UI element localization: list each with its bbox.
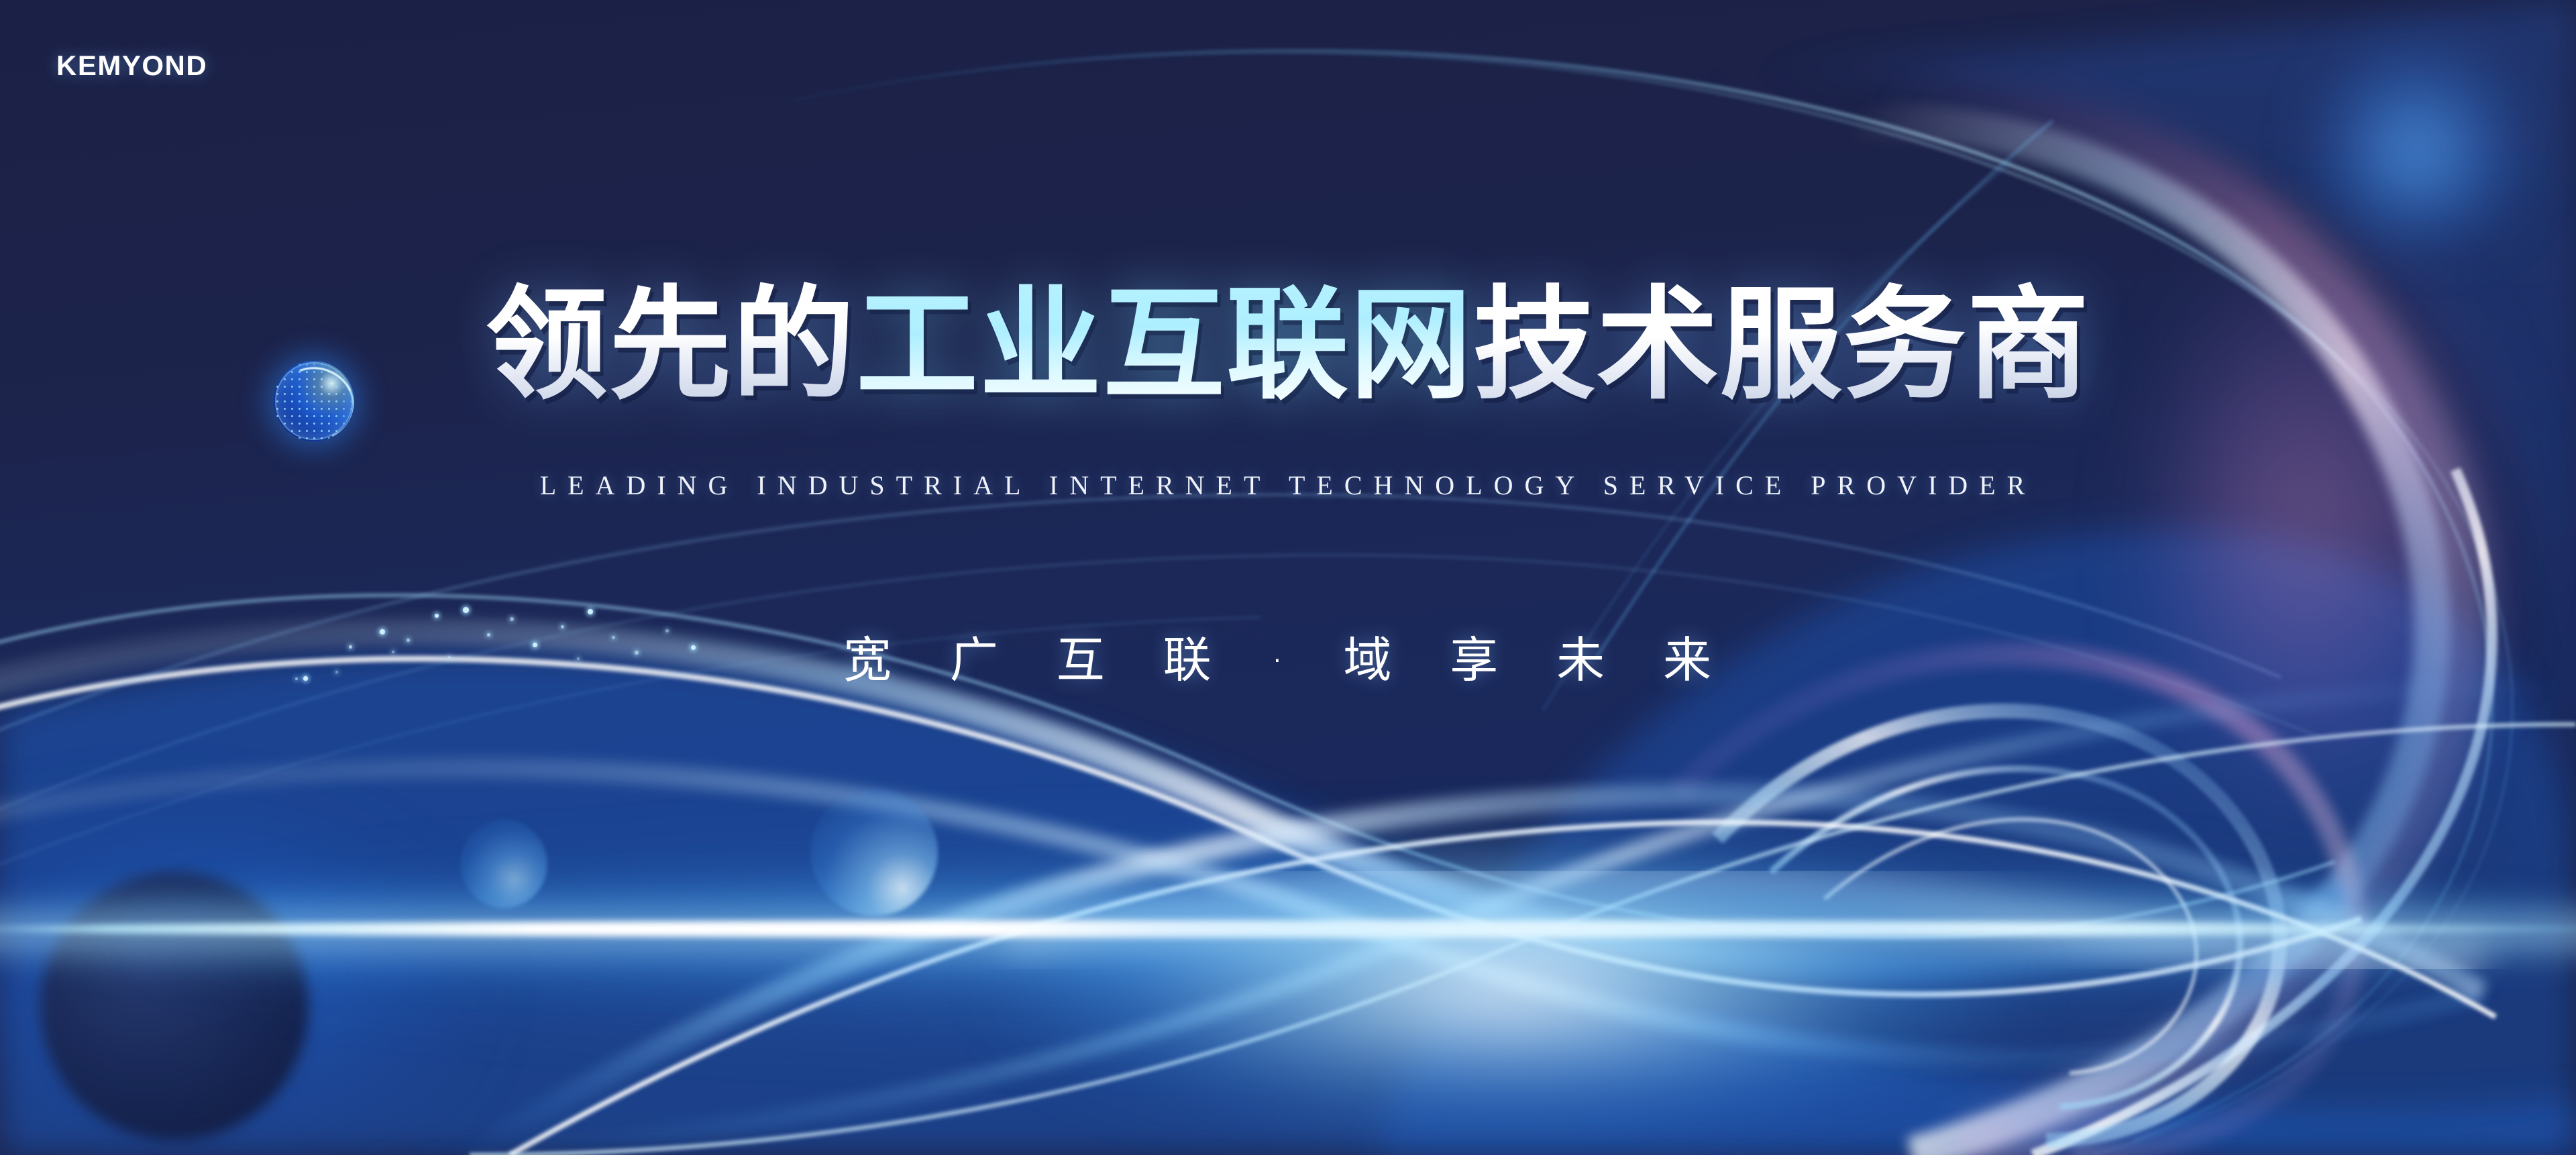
headline-segment-3: 技术服务商 — [1473, 280, 2090, 410]
hero-content: KEMYOND 领先的工业互联网技术服务商 LEADING INDUSTRIAL… — [0, 0, 2576, 1155]
headline-segment-2: 工业互联网 — [856, 280, 1473, 410]
marketing-banner: KEMYOND 领先的工业互联网技术服务商 LEADING INDUSTRIAL… — [0, 0, 2576, 1155]
brand-tagline: 宽 广 互 联 · 域 享 未 来 — [0, 620, 2576, 691]
brand-logo[interactable]: KEMYOND — [56, 50, 207, 82]
page-title: 领先的工业互联网技术服务商 — [0, 280, 2576, 410]
headline-segment-1: 领先的 — [486, 280, 856, 410]
headline-subtitle: LEADING INDUSTRIAL INTERNET TECHNOLOGY S… — [0, 470, 2576, 501]
